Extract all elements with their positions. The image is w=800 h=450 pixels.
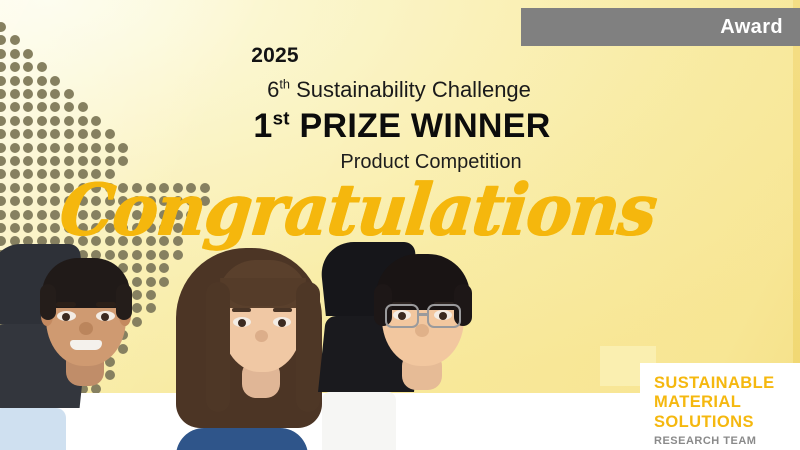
eye-left <box>62 313 70 321</box>
challenge-name: Sustainability Challenge <box>290 77 531 102</box>
challenge-title: 6th Sustainability Challenge <box>0 73 800 106</box>
award-announcement-graphic: Award 2025 6th Sustainability Challenge … <box>0 0 800 450</box>
prize-label: PRIZE WINNER <box>290 107 551 145</box>
nose <box>255 330 268 342</box>
eye-right <box>101 313 109 321</box>
award-recipient-left <box>0 244 177 450</box>
denim-shirt <box>176 428 308 450</box>
glasses-lens-left <box>385 304 419 328</box>
headline-block: 2025 6th Sustainability Challenge 1st PR… <box>0 44 800 176</box>
eye-right <box>278 319 286 327</box>
glasses-bridge <box>418 313 429 316</box>
eyebrow-right <box>96 302 116 307</box>
eyebrow-left <box>56 302 76 307</box>
award-banner-label: Award <box>720 16 783 39</box>
logo-line-1: SUSTAINABLE <box>654 374 800 393</box>
organization-logo: SUSTAINABLE MATERIAL SOLUTIONS RESEARCH … <box>640 363 800 450</box>
logo-line-3: SOLUTIONS <box>654 413 800 432</box>
glasses-lens-right <box>427 304 461 328</box>
nose <box>79 322 93 335</box>
hair-side-right <box>296 282 320 412</box>
mouth <box>70 340 102 350</box>
award-recipient-right <box>322 242 522 450</box>
award-banner: Award <box>521 8 800 46</box>
prize-ordinal-suffix: st <box>273 108 290 129</box>
challenge-ordinal-suffix: th <box>279 77 290 92</box>
congratulations-script-text: Congratulations <box>0 175 800 246</box>
eyebrow-left <box>232 308 251 312</box>
logo-line-2: MATERIAL <box>654 393 800 412</box>
challenge-number: 6 <box>267 77 279 102</box>
dress-shirt <box>0 408 66 450</box>
dress-shirt <box>322 392 396 450</box>
eyebrow-right <box>273 308 292 312</box>
prize-title: 1st PRIZE WINNER <box>4 107 800 145</box>
eye-left <box>238 319 246 327</box>
hair-side-right <box>116 284 132 320</box>
award-year: 2025 <box>0 44 800 68</box>
hair-side-left <box>40 284 56 320</box>
logo-subtitle: RESEARCH TEAM <box>654 435 800 447</box>
prize-number: 1 <box>253 107 272 145</box>
nose <box>415 324 429 337</box>
hair-side-left <box>206 282 230 412</box>
